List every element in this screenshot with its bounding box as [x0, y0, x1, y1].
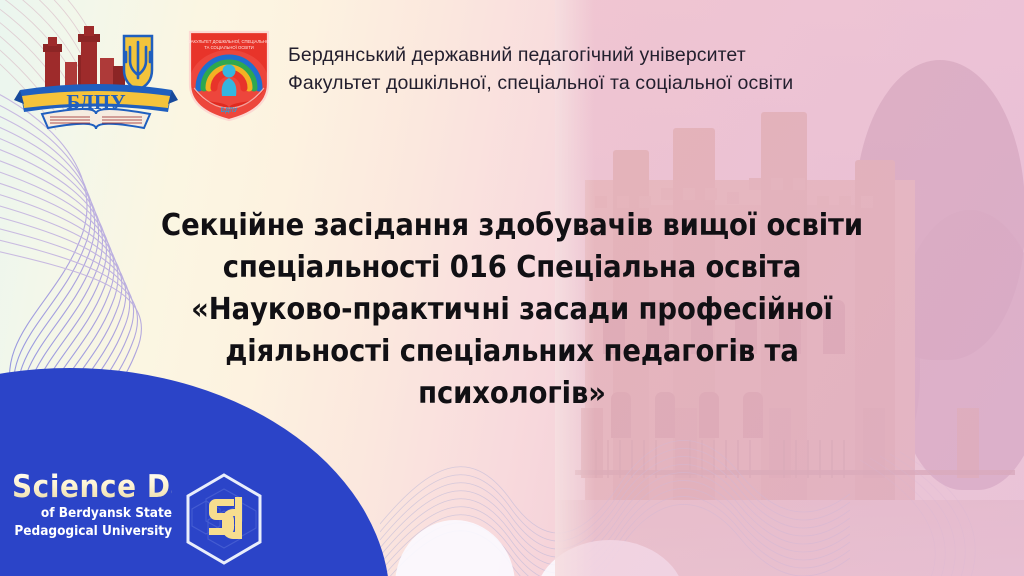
faculty-emblem-bottom-text: БДПУ — [221, 108, 238, 114]
title-line-3: «Науково-практичні засади професійної — [50, 289, 974, 331]
title-line-1: Секційне засідання здобувачів вищої осві… — [50, 205, 974, 247]
title-line-4: діяльності спеціальних педагогів та — [50, 331, 974, 373]
slide-header: БДПУ — [0, 0, 1024, 140]
svg-text:ТА СОЦІАЛЬНОЇ ОСВІТИ: ТА СОЦІАЛЬНОЇ ОСВІТИ — [204, 45, 254, 50]
slide-title: Секційне засідання здобувачів вищої осві… — [50, 205, 974, 415]
slide-canvas: БДПУ — [0, 0, 1024, 576]
sd-hexagon-monogram-icon — [176, 471, 272, 567]
title-line-5: психологів» — [50, 373, 974, 415]
science-days-subtitle-line1: of Berdyansk State — [12, 506, 172, 521]
science-days-subtitle-line2: Pedagogical University — [12, 524, 172, 539]
faculty-shield-icon: ФАКУЛЬТЕТ ДОШКІЛЬНОЇ, СПЕЦІАЛЬНОЇ ТА СОЦ… — [186, 26, 272, 122]
science-days-title: Science Days — [12, 471, 172, 503]
science-days-wordmark: Science Days of Berdyansk State Pedagogi… — [12, 471, 172, 539]
institution-text: Бердянський державний педагогічний уніве… — [288, 42, 928, 97]
title-line-2: спеціальності 016 Спеціальна освіта — [50, 247, 974, 289]
faculty-name: Факультет дошкільної, спеціальної та соц… — [288, 70, 928, 98]
faculty-emblem-top-text: ФАКУЛЬТЕТ ДОШКІЛЬНОЇ, СПЕЦІАЛЬНОЇ — [188, 39, 272, 44]
university-name: Бердянський державний педагогічний уніве… — [288, 42, 928, 70]
bdpu-crest-icon: БДПУ — [12, 22, 180, 134]
science-days-lockup: Science Days of Berdyansk State Pedagogi… — [8, 465, 318, 565]
